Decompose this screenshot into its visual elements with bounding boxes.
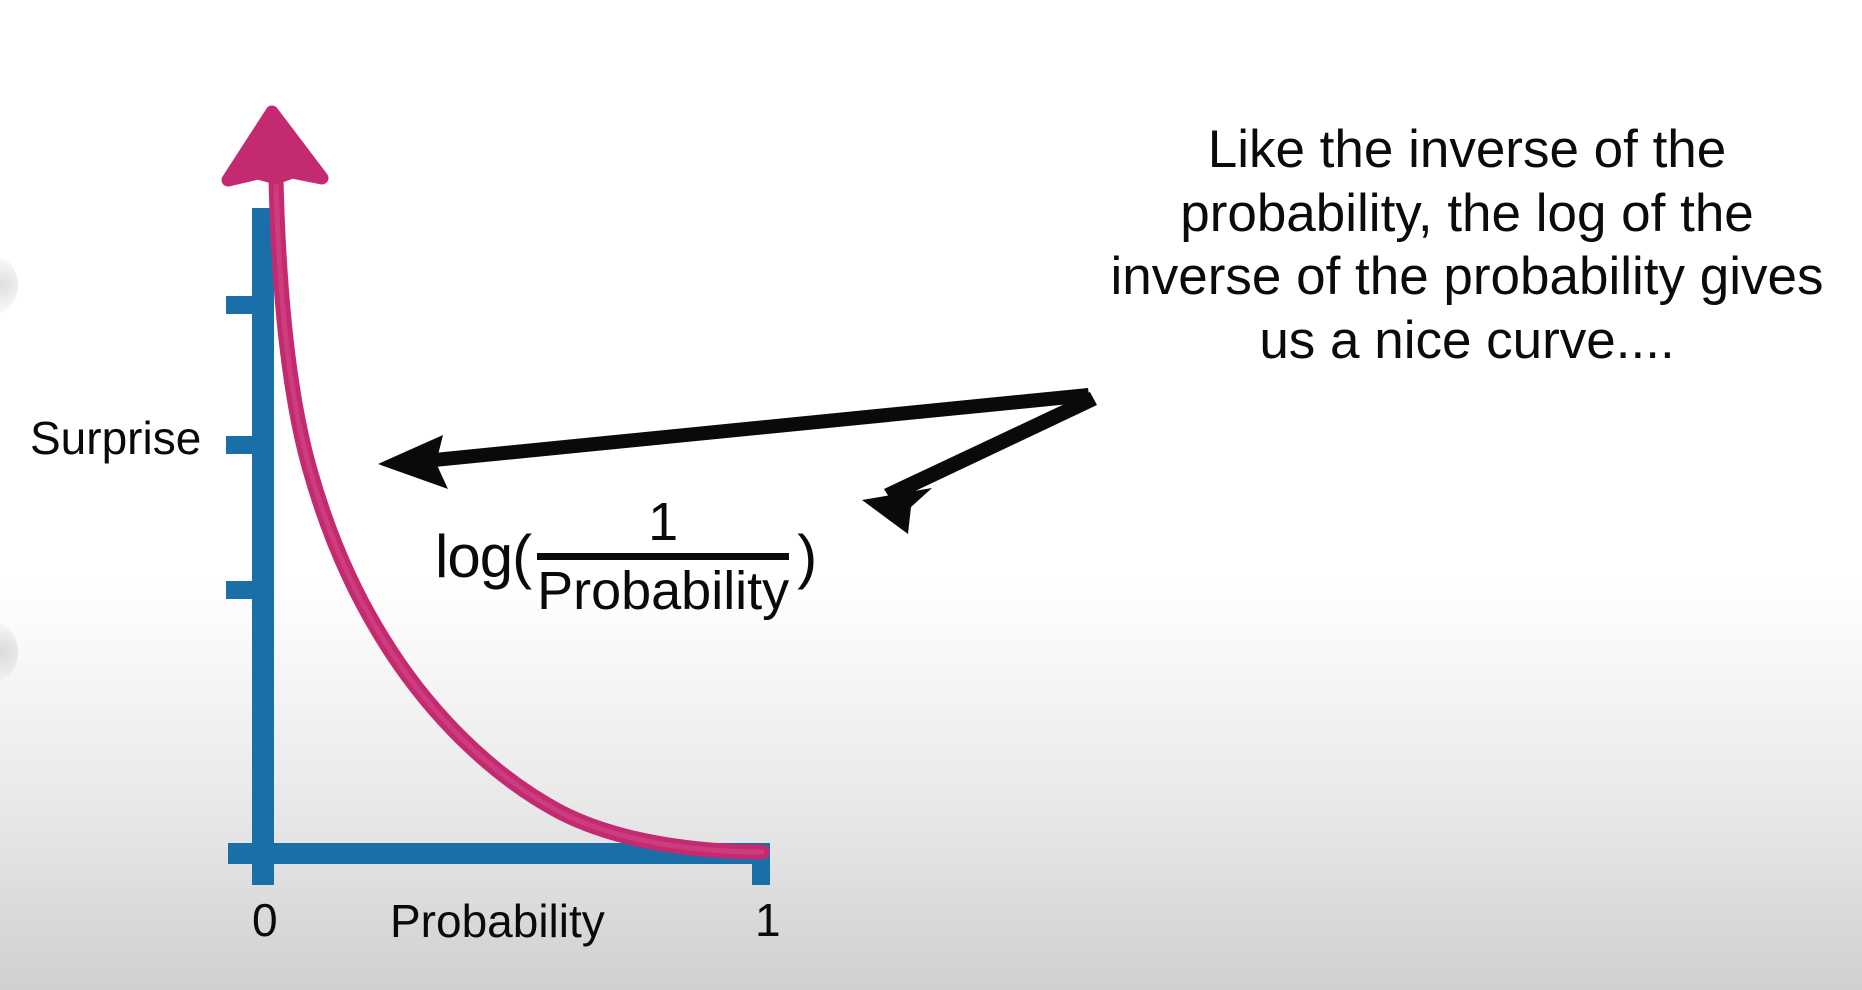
formula-log-open: log( <box>435 527 531 587</box>
y-tick-2 <box>226 436 260 454</box>
arrow-to-curve <box>378 388 1090 489</box>
narration-text: Like the inverse of the probability, the… <box>1108 118 1826 372</box>
y-tick-3 <box>226 581 260 599</box>
formula-annotation: log( 1 Probability ) <box>435 495 817 618</box>
x-tick-label-1: 1 <box>755 897 781 943</box>
y-tick-1 <box>226 296 260 314</box>
x-tick-label-0: 0 <box>252 897 278 943</box>
y-axis-title: Surprise <box>30 415 201 461</box>
x-tick-0-mark <box>252 843 274 885</box>
slide-canvas: Surprise Probability 0 1 log( 1 Probabil… <box>0 0 1862 990</box>
formula-fraction-bar <box>537 553 789 560</box>
formula-fraction: 1 Probability <box>537 495 789 618</box>
formula-denominator: Probability <box>537 560 789 618</box>
formula-numerator: 1 <box>648 495 678 553</box>
x-axis-title: Probability <box>390 898 605 944</box>
surprise-curve-group <box>228 112 762 852</box>
curve-arrowhead <box>228 112 322 180</box>
formula-paren-close: ) <box>797 527 817 587</box>
